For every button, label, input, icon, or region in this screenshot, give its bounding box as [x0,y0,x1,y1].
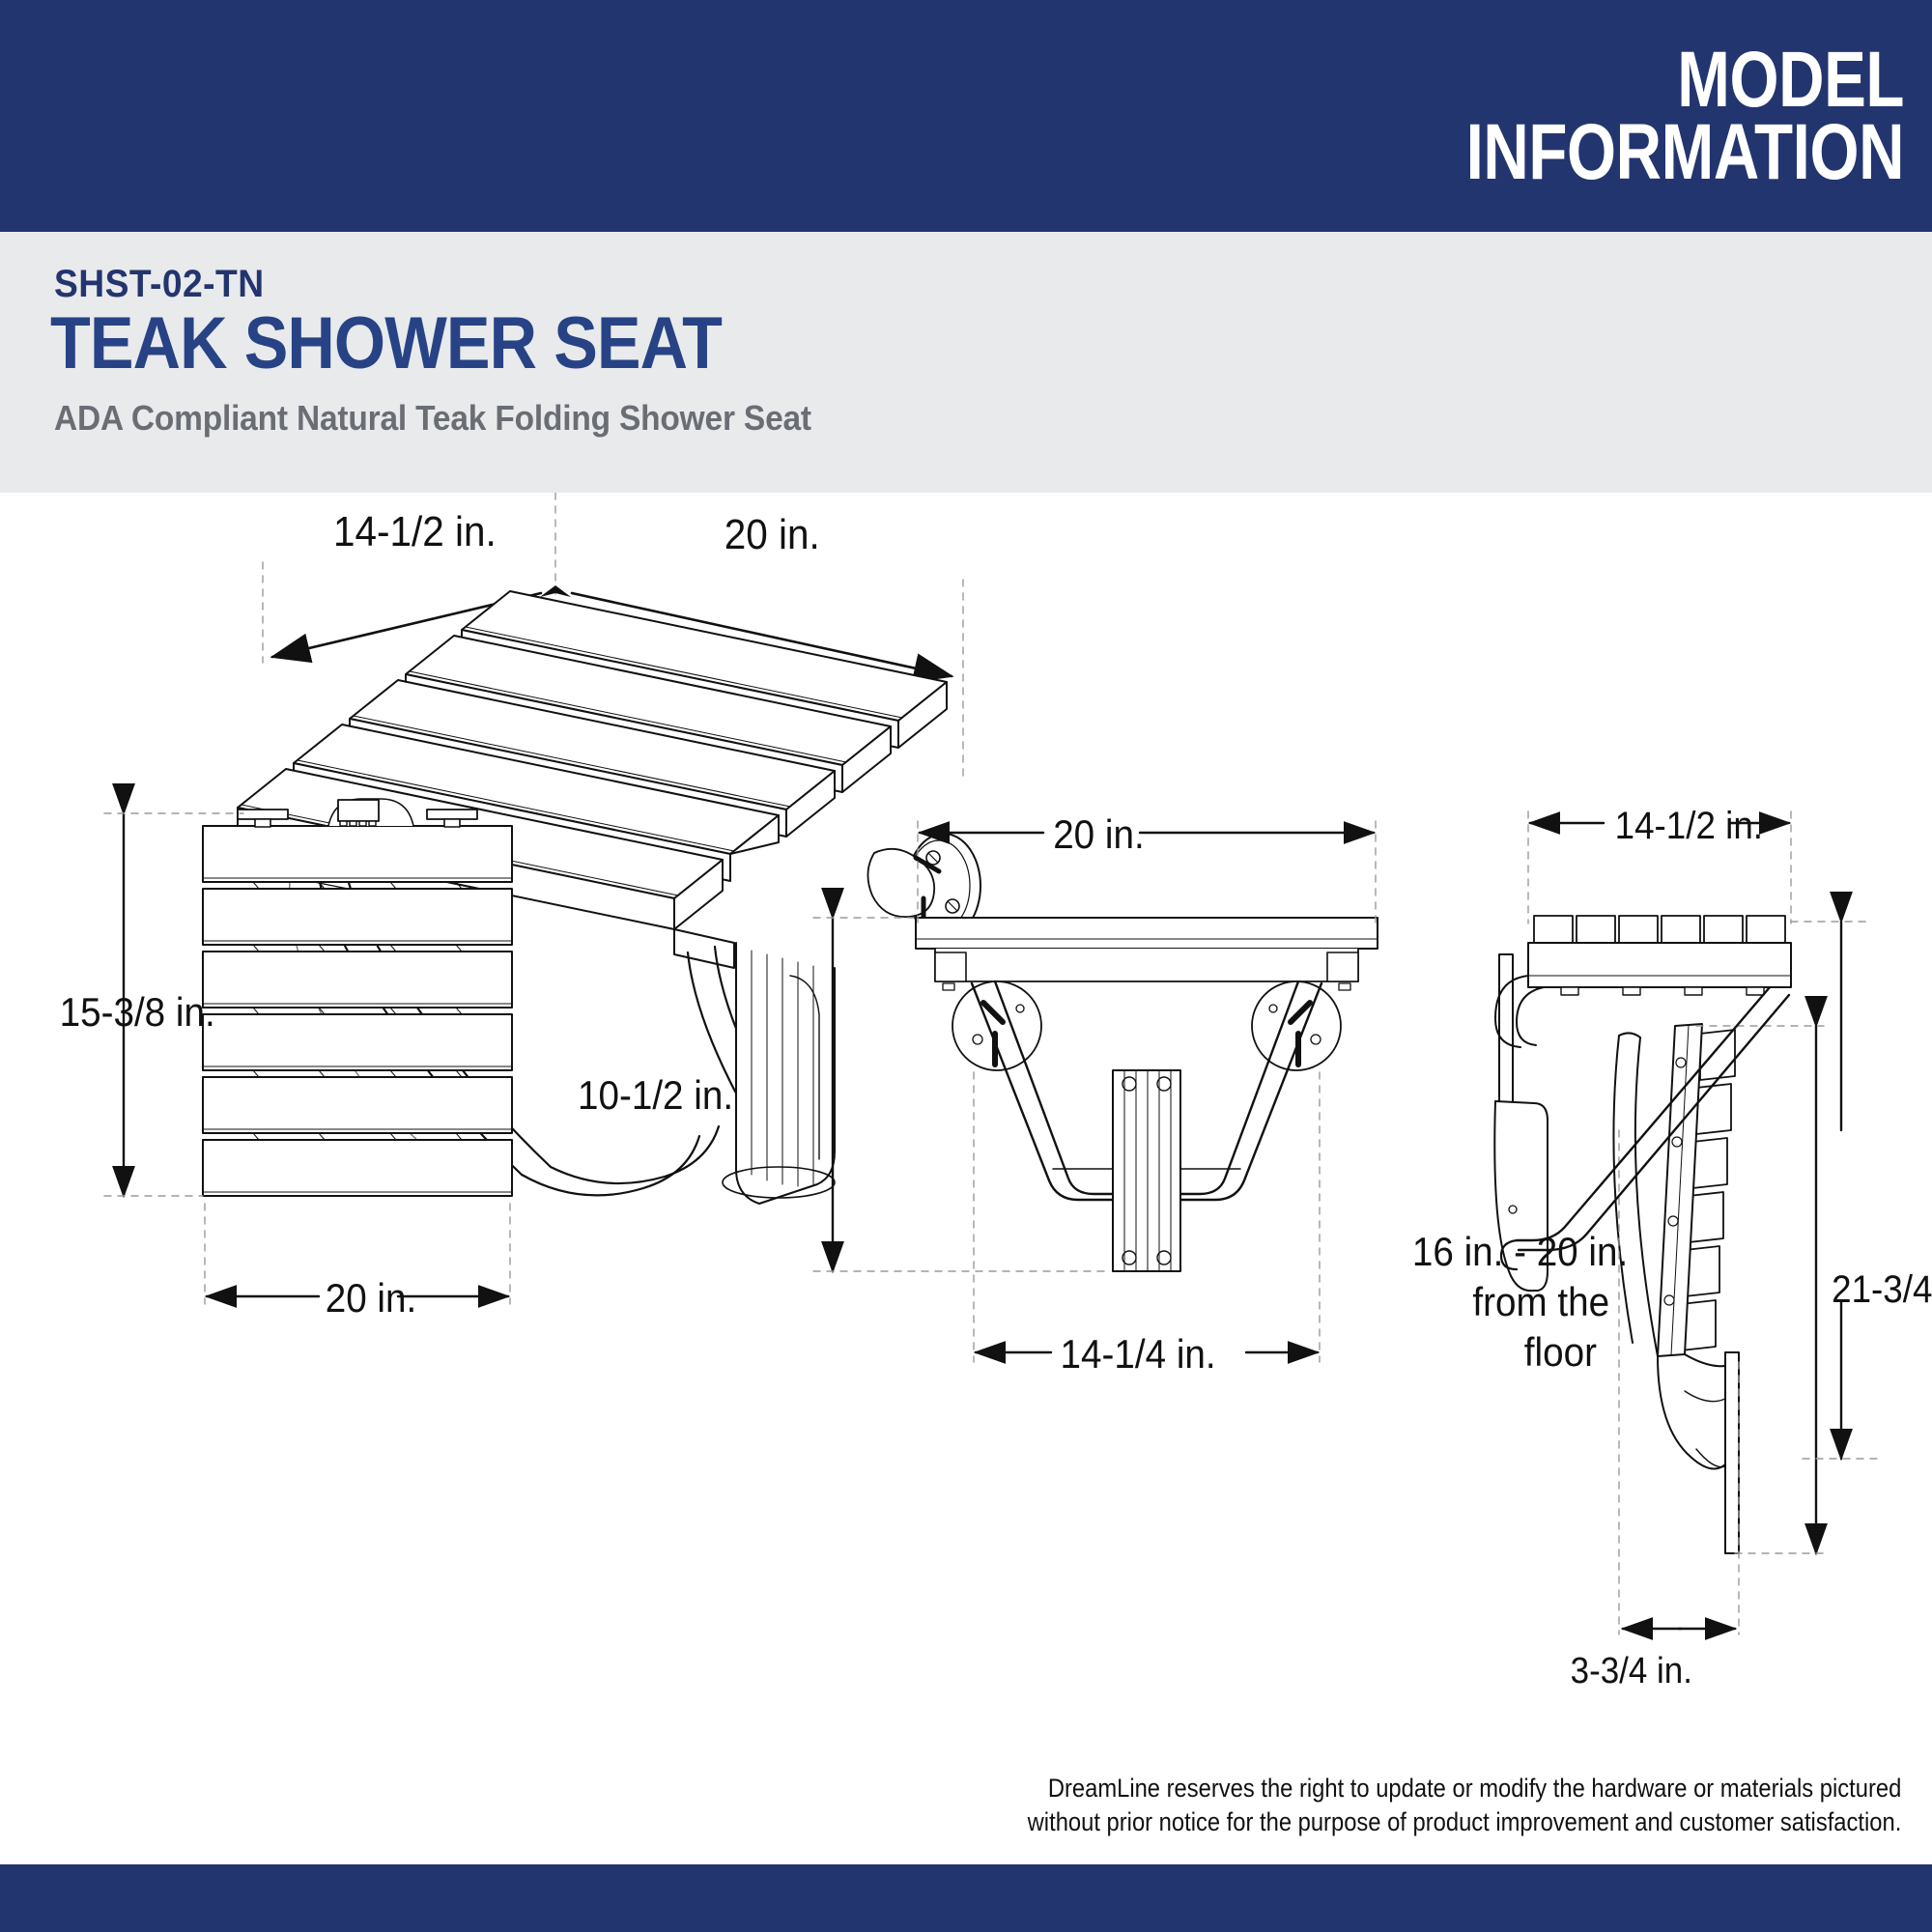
dim-front-leg-span: 14-1/4 in. [1061,1330,1216,1377]
dim-front-width: 20 in. [1053,810,1145,857]
page-title: TEAK SHOWER SEAT [50,307,722,381]
dim-iso-depth: 14-1/2 in. [333,507,497,554]
header-title: MODEL INFORMATION [1466,43,1932,189]
dim-front-height: 10-1/2 in. [578,1071,733,1118]
svg-text:from the: from the [1472,1278,1609,1324]
svg-text:floor: floor [1524,1328,1597,1375]
product-subtitle: ADA Compliant Natural Teak Folding Showe… [54,398,811,439]
model-information-sheet: MODEL INFORMATION SHST-02-TN TEAK SHOWER… [0,0,1932,1932]
title-block: SHST-02-TN TEAK SHOWER SEAT ADA Complian… [0,232,1932,493]
dim-top-width: 20 in. [326,1274,417,1321]
dim-side-depth: 14-1/2 in. [1615,805,1763,848]
technical-drawing-area: 14-1/2 in. 20 in. 21-3/4 3-3/4 in. 15-3/… [0,493,1932,1826]
dim-folded-depth: 3-3/4 in. [1571,1650,1692,1691]
dim-folded-height: 21-3/4 [1832,1268,1932,1312]
footer-banner [0,1864,1932,1932]
dim-top-depth: 15-3/8 in. [60,988,215,1035]
top-view [104,799,512,1304]
svg-text:16 in. - 20 in.: 16 in. - 20 in. [1412,1228,1628,1274]
model-number: SHST-02-TN [54,263,265,306]
header-banner: MODEL INFORMATION [0,0,1932,232]
side-folded-view [1613,1024,1824,1634]
dim-side-mount-height: 16 in. - 20 in. from the floor [1412,1228,1628,1375]
footer-disclaimer: DreamLine reserves the right to update o… [232,1772,1932,1838]
dim-iso-width: 20 in. [724,510,820,557]
